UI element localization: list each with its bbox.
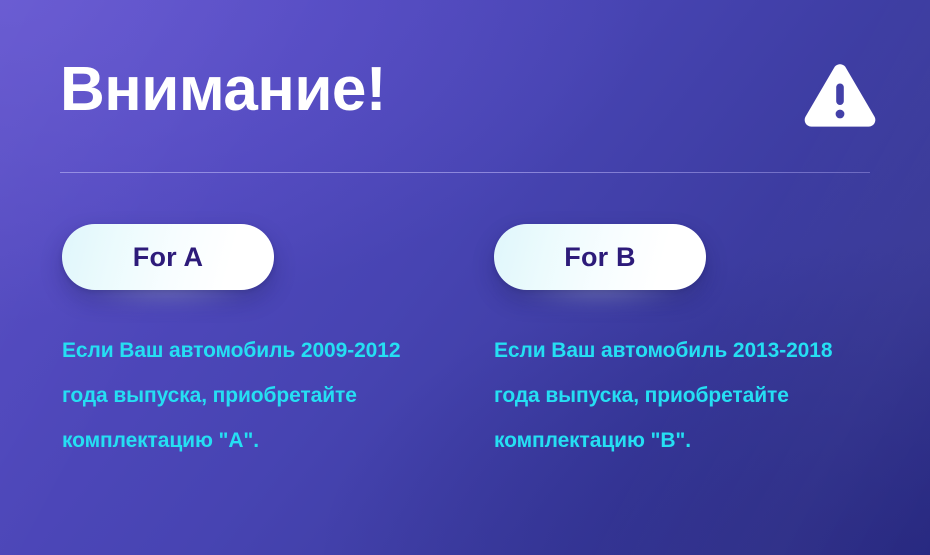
- warning-banner: Внимание! For A Если Ваш автомобиль 200: [0, 0, 930, 555]
- for-b-button[interactable]: For B: [494, 224, 706, 290]
- option-a-description: Если Ваш автомобиль 2009-2012 года выпус…: [62, 328, 442, 463]
- option-a-line-2: года выпуска, приобретайте: [62, 373, 442, 418]
- option-b-line-3: комплектацию "B".: [494, 418, 874, 463]
- option-b-line-2: года выпуска, приобретайте: [494, 373, 874, 418]
- for-a-button[interactable]: For A: [62, 224, 274, 290]
- options-columns: For A Если Ваш автомобиль 2009-2012 года…: [0, 0, 930, 555]
- for-b-button-label: For B: [564, 244, 636, 271]
- option-a-line-3: комплектацию "A".: [62, 418, 442, 463]
- option-b-button-wrap: For B: [494, 224, 706, 290]
- for-a-button-label: For A: [133, 244, 204, 271]
- option-a-button-wrap: For A: [62, 224, 274, 290]
- banner-content: Внимание! For A Если Ваш автомобиль 200: [0, 0, 930, 555]
- option-b-description: Если Ваш автомобиль 2013-2018 года выпус…: [494, 328, 874, 463]
- option-a-line-1: Если Ваш автомобиль 2009-2012: [62, 328, 442, 373]
- option-b-line-1: Если Ваш автомобиль 2013-2018: [494, 328, 874, 373]
